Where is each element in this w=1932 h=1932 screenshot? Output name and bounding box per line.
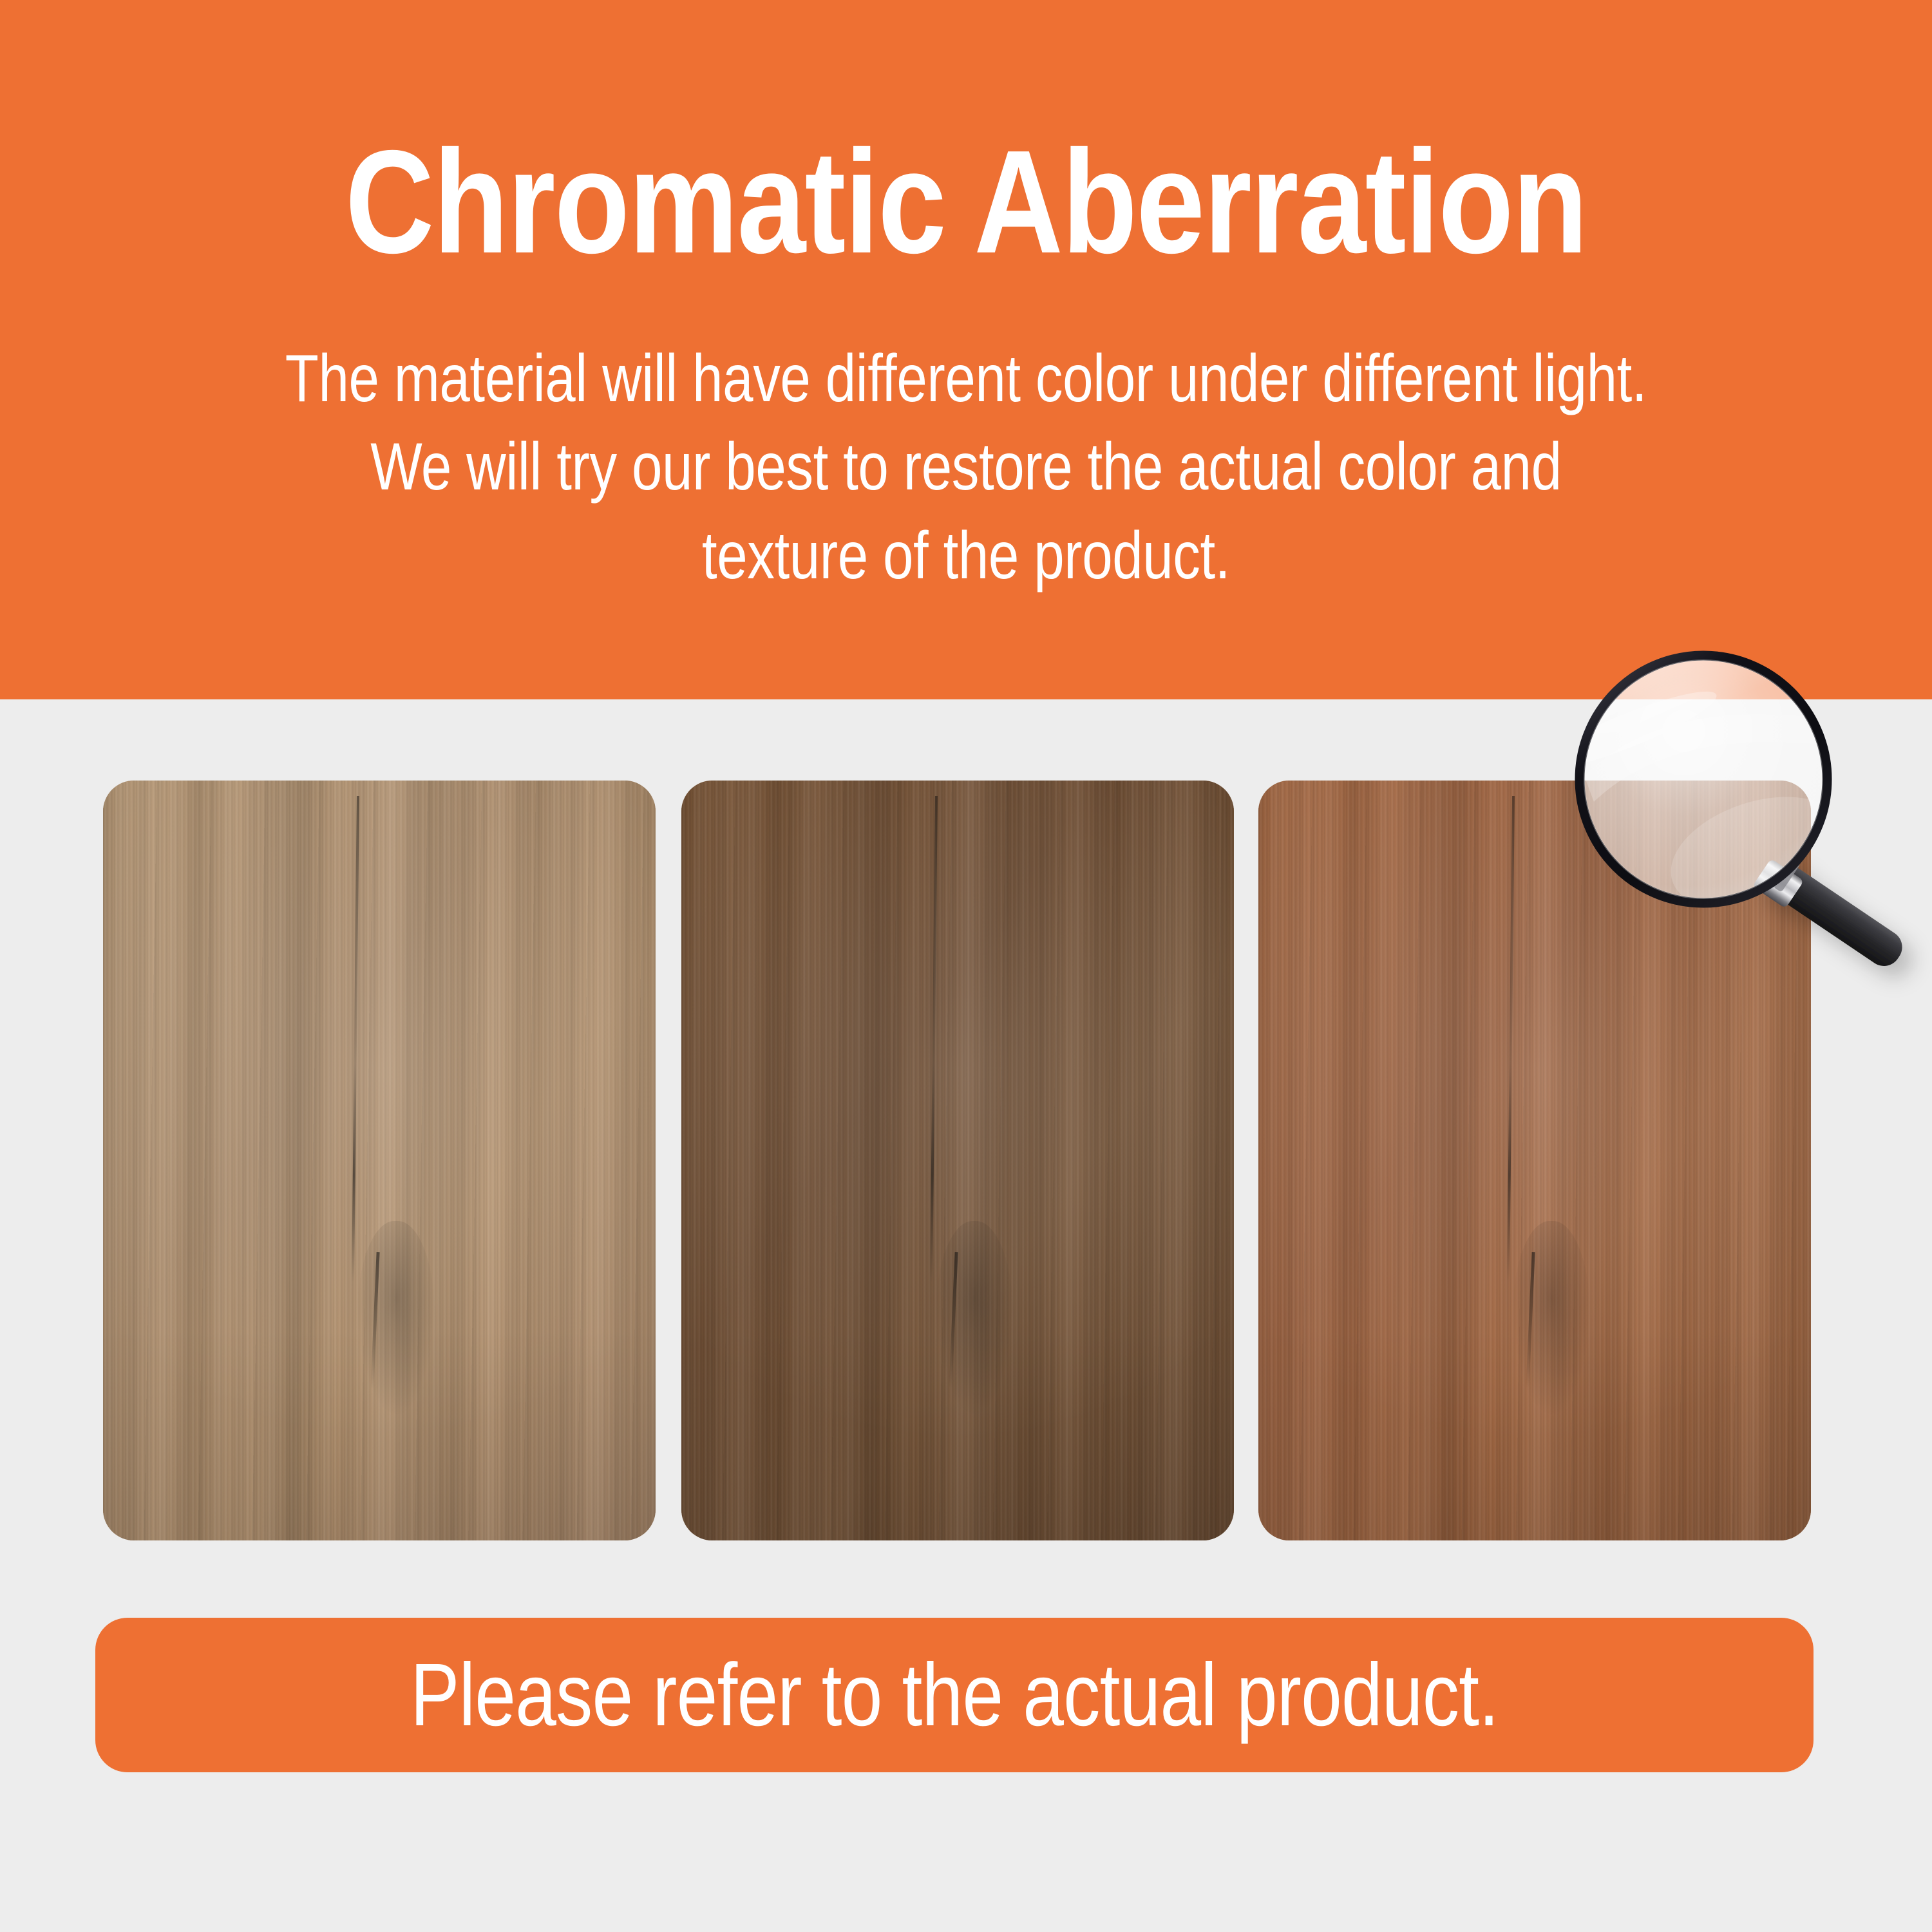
wood-texture-light <box>103 781 656 1540</box>
footer-banner-label: Please refer to the actual product. <box>410 1651 1499 1739</box>
wood-texture-warm <box>1258 781 1811 1540</box>
footer-banner[interactable]: Please refer to the actual product. <box>95 1618 1814 1772</box>
wood-shading <box>103 781 656 1540</box>
dark-walnut-swatch[interactable] <box>681 781 1234 1540</box>
light-oak-swatch[interactable] <box>103 781 656 1540</box>
wood-shading <box>1258 781 1811 1540</box>
wood-shading <box>681 781 1234 1540</box>
wood-texture-dark <box>681 781 1234 1540</box>
warm-chestnut-swatch[interactable] <box>1258 781 1811 1540</box>
chromatic-aberration-infographic: Chromatic Aberration The material will h… <box>0 0 1932 1932</box>
